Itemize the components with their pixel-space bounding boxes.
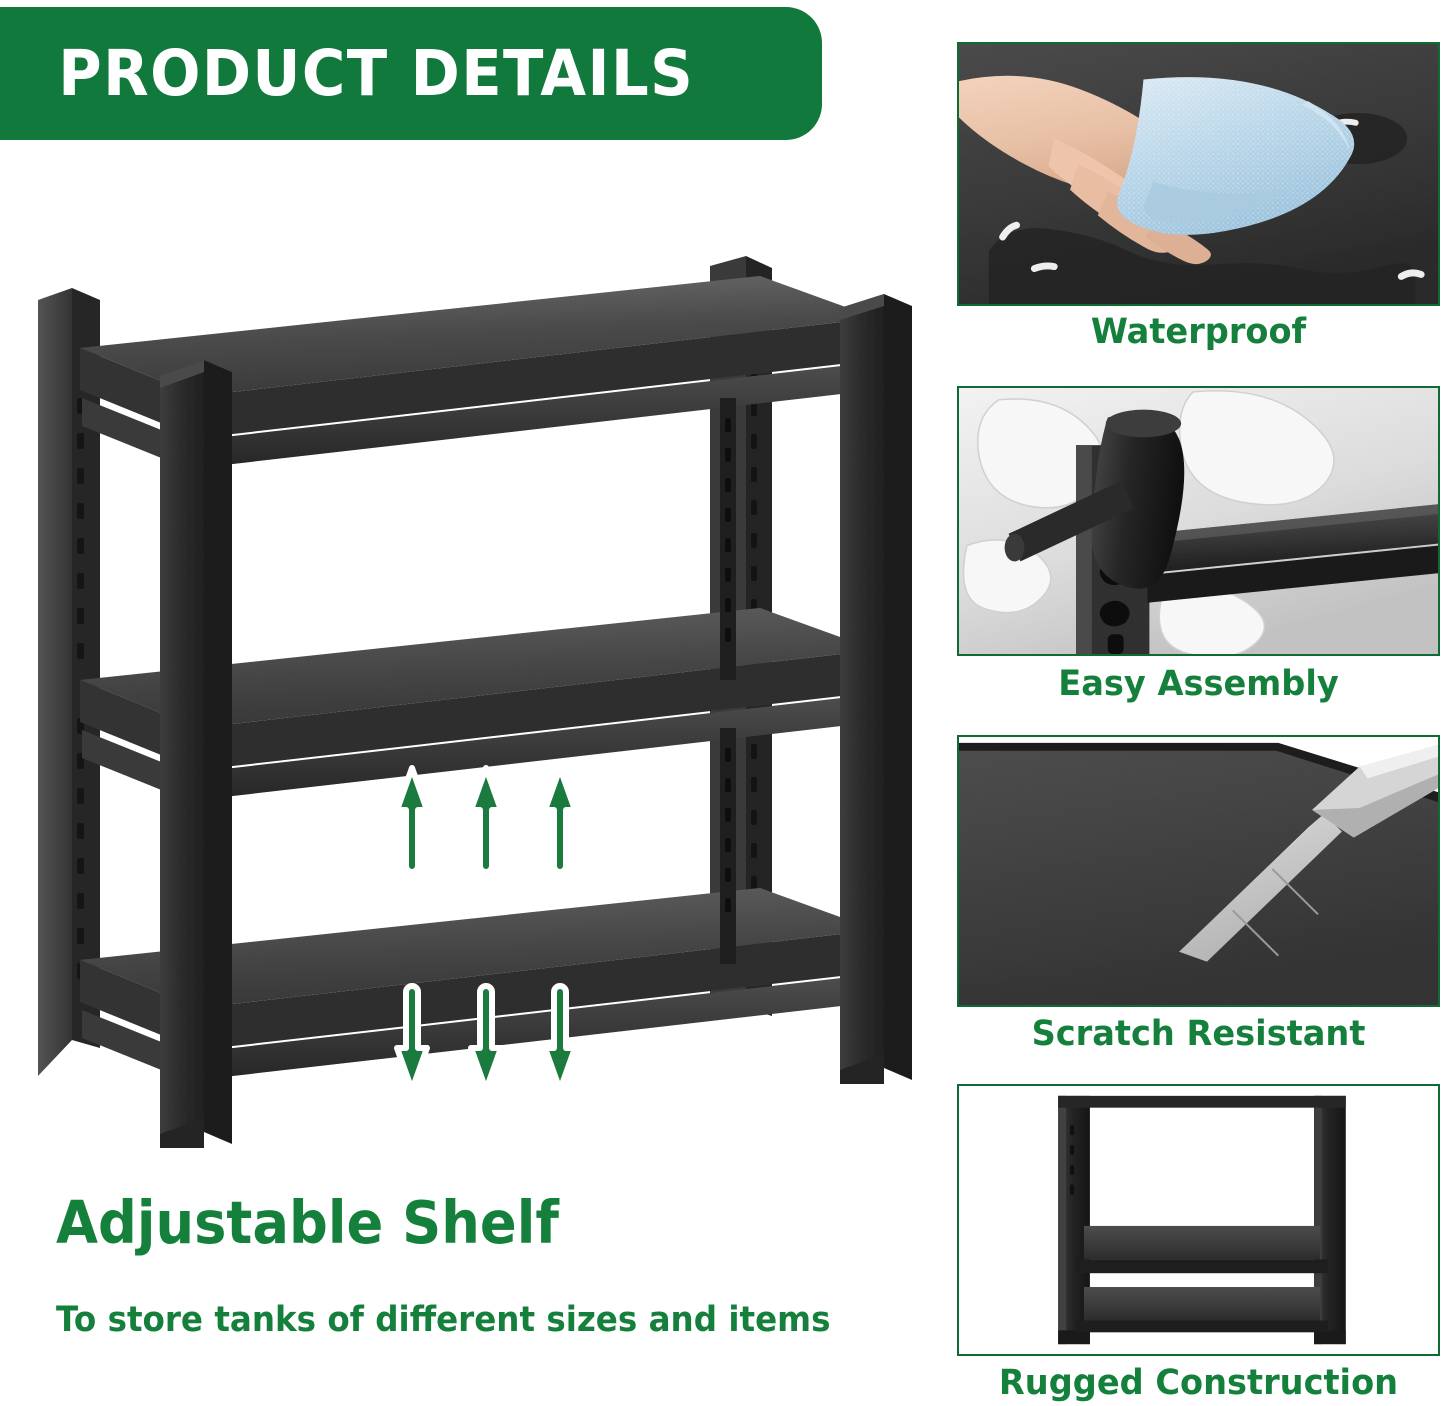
- adjust-up-arrows: [392, 762, 580, 877]
- feature-image-scratch-resistant: [957, 735, 1440, 1007]
- scratch-resistant-art: [959, 737, 1438, 1005]
- feature-column: Waterproof: [957, 0, 1440, 1406]
- product-details-banner: PRODUCT DETAILS: [0, 7, 822, 140]
- hero-heading: Adjustable Shelf: [56, 1188, 559, 1257]
- feature-image-easy-assembly: [957, 386, 1440, 656]
- feature-label-waterproof: Waterproof: [967, 312, 1431, 352]
- feature-label-scratch-resistant: Scratch Resistant: [967, 1014, 1431, 1054]
- adjust-down-arrows: [392, 981, 580, 1096]
- feature-label-easy-assembly: Easy Assembly: [967, 664, 1431, 704]
- arrow-down-icon: [392, 981, 432, 1096]
- rugged-construction-art: [959, 1086, 1438, 1354]
- arrow-up-icon: [466, 762, 506, 877]
- arrow-up-icon: [392, 762, 432, 877]
- hero-product-image: [20, 248, 925, 1153]
- feature-image-rugged-construction: [957, 1084, 1440, 1356]
- product-details-infographic: PRODUCT DETAILS: [0, 0, 1445, 1406]
- feature-label-rugged-construction: Rugged Construction: [967, 1363, 1431, 1403]
- easy-assembly-art: [959, 388, 1438, 654]
- feature-image-waterproof: [957, 42, 1440, 306]
- arrow-down-icon: [466, 981, 506, 1096]
- shelf-post-front-left: [160, 360, 232, 1148]
- page-title: PRODUCT DETAILS: [0, 37, 694, 110]
- shelf-post-front-right: [840, 294, 912, 1084]
- arrow-up-icon: [540, 762, 580, 877]
- waterproof-art: [959, 44, 1438, 304]
- arrow-down-icon: [540, 981, 580, 1096]
- hero-subheading: To store tanks of different sizes and it…: [56, 1300, 830, 1340]
